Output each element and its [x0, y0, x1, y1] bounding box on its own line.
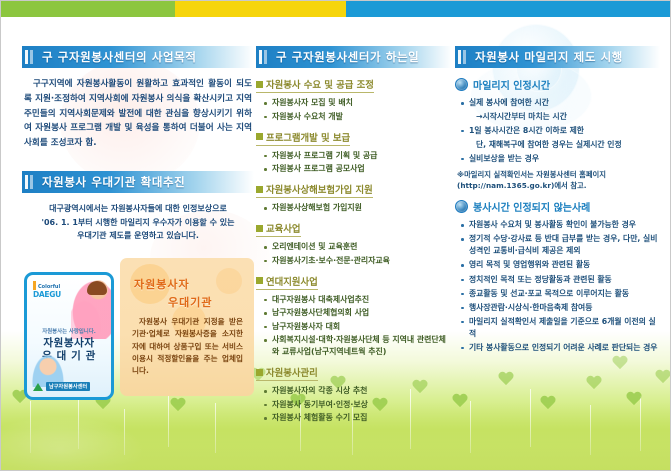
mileage-group-title-label: 마일리지 인정시간 [473, 77, 550, 92]
activity-group-title: 자원봉사 수요 및 공급 조정 [256, 77, 374, 93]
activity-group-title: 교육사업 [256, 221, 301, 237]
yellowbox-title-line2: 우대기관 [168, 294, 212, 310]
activity-group-title: 자원봉사상해보험가입 지원 [256, 182, 373, 198]
square-bullet-icon [256, 277, 263, 284]
activity-group: 프로그램개발 및 보급자원봉사 프로그램 기획 및 공급자원봉사 프로그램 공모… [256, 130, 452, 176]
mileage-item: 실제 봉사에 참여한 시간 [459, 97, 660, 109]
mileage-group-title: 봉사시간 인정되지 않는사례 [455, 199, 660, 214]
activity-item: 오리엔테이션 및 교육훈련 [262, 241, 452, 253]
yellowbox-body: 자원봉사 우대기관 지정을 받은 기관·업체로 자원봉사증을 소지한 자에 대하… [132, 316, 243, 377]
banner-stripe-blue [346, 0, 671, 17]
activity-item: 사회복지시설·대학·자원봉사단체 등 지역내 관련단체와 교류사업(남구지역네트… [262, 334, 452, 358]
activity-item: 자원봉사 동기부여·인정·보상 [262, 399, 452, 411]
mileage-group-list: 마일리지 인정시간실제 봉사에 참여한 시간→시작시간부터 마치는 시간1일 봉… [455, 77, 660, 354]
mileage-item-sub: 단, 재해복구에 참여한 경우는 실제시간 인정 [459, 139, 660, 151]
activity-item: 대구자원봉사 대축제사업추진 [262, 294, 452, 306]
activity-item: 자원봉사기초·보수·전문·관리자교육 [262, 255, 452, 267]
section-header-mileage-label: 자원봉사 마일리지 제도 시행 [475, 49, 623, 65]
activity-item: 자원봉사자 모집 및 배치 [262, 97, 452, 109]
section-header-partner-label: 자원봉사 우대기관 확대추진 [42, 174, 185, 190]
mileage-group-title: 마일리지 인정시간 [455, 77, 660, 92]
partner-line-3: 우대기관 제도를 운영하고 있습니다. [22, 229, 254, 243]
activity-item: 자원봉사 프로그램 공모사업 [262, 163, 452, 175]
volunteer-id-card-image: Colorful DAEGU 자원봉사는 사랑입니다. 자원봉사자 우 대 기 … [24, 272, 114, 400]
square-bullet-icon [256, 133, 263, 140]
activity-group: 교육사업오리엔테이션 및 교육훈련자원봉사기초·보수·전문·관리자교육 [256, 221, 452, 267]
activity-group: 자원봉사 수요 및 공급 조정자원봉사자 모집 및 배치자원봉사 수요처 개발 [256, 77, 452, 123]
card-footer-org: 남구자원봉사센터 [46, 382, 90, 391]
colorful-daegu-logo: Colorful DAEGU [33, 281, 61, 299]
mileage-group: 봉사시간 인정되지 않는사례자원봉사 수요처 및 봉사활동 확인이 불가능한 경… [455, 199, 660, 354]
card-title-line1: 자원봉사자 [43, 337, 94, 349]
activity-item: 자원봉사 체험활동 수기 모집 [262, 412, 452, 424]
activity-item: 자원봉사상해보험 가입지원 [262, 202, 452, 214]
activity-item: 남구자원봉사자 대회 [262, 321, 452, 333]
mileage-item-sub: →시작시간부터 마치는 시간 [459, 111, 660, 123]
partner-line-2: '06. 1. 1부터 시행한 마일리지 우수자가 이용할 수 있는 [22, 216, 254, 230]
activity-group-title-label: 교육사업 [266, 221, 301, 235]
mileage-item: 영리 목적 및 영업행위와 관련된 활동 [459, 259, 660, 271]
activities-group-list: 자원봉사 수요 및 공급 조정자원봉사자 모집 및 배치자원봉사 수요처 개발프… [256, 77, 452, 424]
mileage-item: 마일리지 실적확인서 제출일을 기준으로 6개월 이전의 실적 [459, 316, 660, 340]
activity-group-title: 연대지원사업 [256, 274, 318, 290]
circle-bullet-icon [455, 200, 468, 213]
activity-item: 자원봉사자의 각종 시상 추천 [262, 385, 452, 397]
logo-daegu-text: DAEGU [33, 290, 61, 299]
mountain-logo-icon [33, 383, 43, 391]
section-header-activities-label: 구 구자원봉사센터가 하는일 [276, 49, 419, 65]
activity-group: 자원봉사관리자원봉사자의 각종 시상 추천자원봉사 동기부여·인정·보상자원봉사… [256, 365, 452, 424]
square-bullet-icon [256, 369, 263, 376]
header-bars-icon [25, 175, 33, 189]
mileage-item: 행사장관람·시상식·한마음축제 참여등 [459, 302, 660, 314]
activity-group-title-label: 자원봉사 수요 및 공급 조정 [266, 77, 374, 91]
mileage-item: 정기적 수당·강사료 등 반대 급부를 받는 경우, 다만, 실비성격인 교통비… [459, 233, 660, 257]
mileage-item: 종교활동 및 선교·포교 목적으로 이루어지는 활동 [459, 288, 660, 300]
section-header-mileage: 자원봉사 마일리지 제도 시행 [455, 46, 660, 68]
mileage-item: 자원봉사 수요처 및 봉사활동 확인이 불가능한 경우 [459, 219, 660, 231]
section-header-purpose: 구 구자원봉사센터의 사업목적 [22, 46, 254, 68]
card-tagline: 자원봉사는 사랑입니다. [27, 327, 111, 335]
square-bullet-icon [256, 225, 263, 232]
card-footer: 남구자원봉사센터 [33, 382, 107, 391]
header-bars-icon [25, 50, 33, 64]
sun-decor-3 [216, 268, 242, 294]
circle-bullet-icon [455, 78, 468, 91]
activity-group-title: 프로그램개발 및 보급 [256, 130, 350, 146]
square-bullet-icon [256, 186, 263, 193]
yellowbox-title-line1: 자원봉사자 [134, 276, 190, 292]
activity-item: 자원봉사 프로그램 기획 및 공급 [262, 150, 452, 162]
activity-group: 자원봉사상해보험가입 지원자원봉사상해보험 가입지원 [256, 182, 452, 214]
header-bars-icon [458, 50, 466, 64]
column-mileage: 자원봉사 마일리지 제도 시행 마일리지 인정시간실제 봉사에 참여한 시간→시… [455, 46, 660, 362]
header-bars-icon [259, 50, 267, 64]
mileage-group-title-label: 봉사시간 인정되지 않는사례 [473, 199, 590, 214]
activity-group-title-label: 연대지원사업 [266, 274, 318, 288]
banner-stripe-green [0, 0, 175, 17]
activity-group-title: 자원봉사관리 [256, 365, 318, 381]
column-activities: 구 구자원봉사센터가 하는일 자원봉사 수요 및 공급 조정자원봉사자 모집 및… [256, 46, 452, 431]
mileage-item: 기타 봉사활동으로 인정되기 어려운 사례로 판단되는 경우 [459, 342, 660, 354]
section-header-partner: 자원봉사 우대기관 확대추진 [22, 171, 254, 193]
mileage-item: 1일 봉사시간은 8시간 이하로 제한 [459, 125, 660, 137]
section-header-activities: 구 구자원봉사센터가 하는일 [256, 46, 452, 68]
square-bullet-icon [256, 81, 263, 88]
mileage-group: 마일리지 인정시간실제 봉사에 참여한 시간→시작시간부터 마치는 시간1일 봉… [455, 77, 660, 191]
activity-group-title-label: 자원봉사관리 [266, 365, 318, 379]
activity-group: 연대지원사업대구자원봉사 대축제사업추진남구자원봉사단체협의회 사업남구자원봉사… [256, 274, 452, 359]
top-color-banner [0, 0, 671, 17]
activity-group-title-label: 자원봉사상해보험가입 지원 [266, 182, 373, 196]
activity-group-title-label: 프로그램개발 및 보급 [266, 130, 350, 144]
section-header-purpose-label: 구 구자원봉사센터의 사업목적 [42, 49, 197, 65]
partner-card-block: Colorful DAEGU 자원봉사는 사랑입니다. 자원봉사자 우 대 기 … [22, 258, 254, 398]
partner-line-1: 대구광역시에서는 자원봉사자들에 대한 인정보상으로 [22, 202, 254, 216]
mileage-item: 실비보상을 받는 경우 [459, 153, 660, 165]
activity-item: 자원봉사 수요처 개발 [262, 111, 452, 123]
column-purpose: 구 구자원봉사센터의 사업목적 구구지역에 자원봉사활동이 원활하고 효과적인 … [22, 46, 254, 243]
banner-stripe-yellow [175, 0, 346, 17]
purpose-paragraph: 구구지역에 자원봉사활동이 원활하고 효과적인 활동이 되도록 지원·조정하여 … [24, 77, 252, 151]
brochure-page: 구 구자원봉사센터의 사업목적 구구지역에 자원봉사활동이 원활하고 효과적인 … [0, 0, 671, 471]
activity-item: 남구자원봉사단체협의회 사업 [262, 307, 452, 319]
mileage-note: ※마일리지 실적확인서는 자원봉사센터 홈페이지 (http://nam.136… [457, 169, 660, 192]
partner-explanation-box: 자원봉사자 우대기관 자원봉사 우대기관 지정을 받은 기관·업체로 자원봉사증… [120, 258, 254, 396]
mileage-item: 정치적인 목적 또는 정당활동과 관련된 활동 [459, 274, 660, 286]
